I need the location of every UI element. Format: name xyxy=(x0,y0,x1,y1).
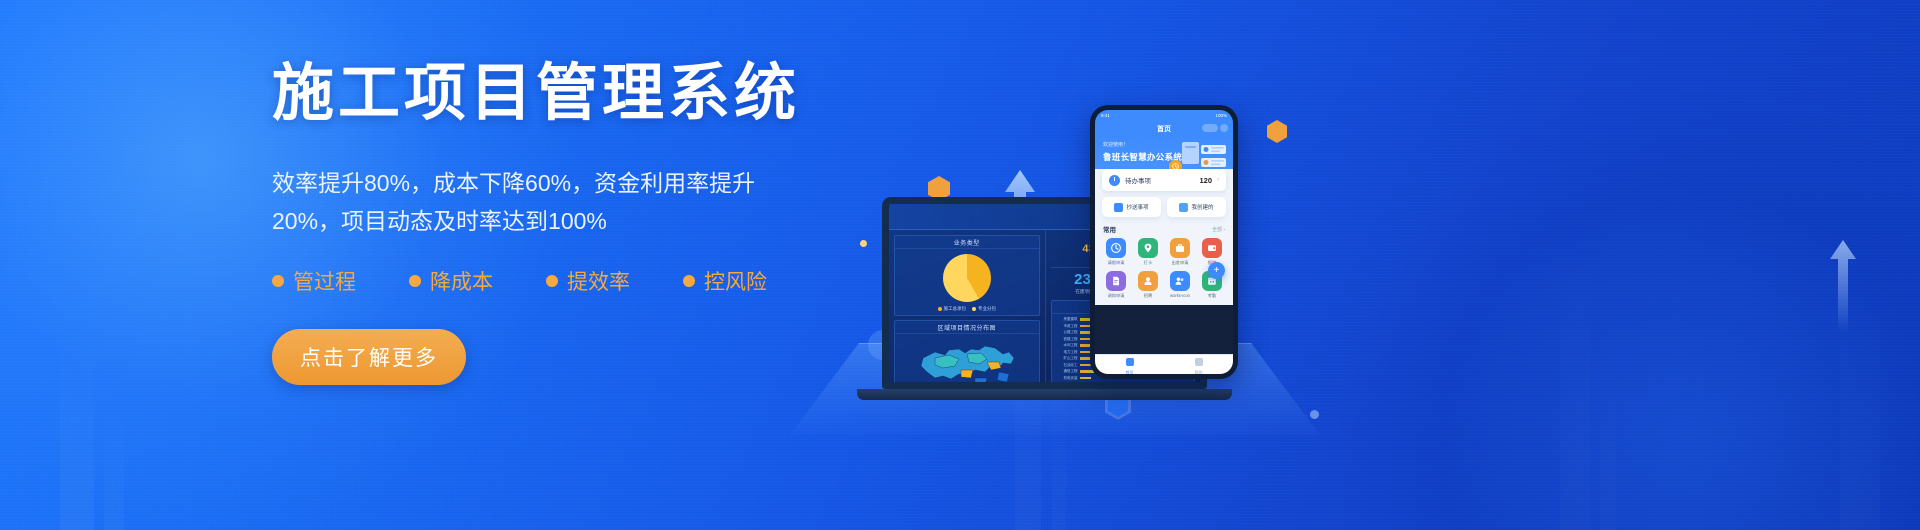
feature-label: 控风险 xyxy=(704,266,767,296)
section-header: 常用 全部 › xyxy=(1103,224,1225,234)
legend-item-0: 施工总承包 xyxy=(938,306,967,312)
banner-subtitle: 效率提升80%，成本下降60%，资金利用率提升20%，项目动态及时率达到100% xyxy=(272,164,792,240)
location-icon xyxy=(1138,238,1158,258)
promo-banner: 施工项目管理系统 效率提升80%，成本下降60%，资金利用率提升20%，项目动态… xyxy=(0,0,1920,530)
bar-row-label: 矿山工程 xyxy=(1056,356,1078,361)
bar-row-bar xyxy=(1080,377,1091,380)
panel-region-map: 区域项目情况分布图 xyxy=(894,320,1040,389)
status-battery: 100% xyxy=(1215,113,1227,118)
app-tile-label: 打卡 xyxy=(1134,260,1162,266)
home-icon xyxy=(1126,358,1134,366)
dashboard-left-column: 业务类型 施工总承包 专业分包 区域项目情况分布图 xyxy=(889,230,1045,382)
tab-label: 首页 xyxy=(1095,367,1164,376)
device-mockups: 市场管理报表 业务类型 施工总承包 专业分包 xyxy=(790,105,1350,435)
bar-row-label: 通信工程 xyxy=(1056,369,1078,374)
bullet-dot-icon xyxy=(546,275,558,287)
section-title: 常用 xyxy=(1103,224,1116,234)
quick-action-cc[interactable]: 抄送事项 xyxy=(1102,197,1161,217)
laptop-base xyxy=(857,389,1232,400)
panel-title: 业务类型 xyxy=(895,236,1039,249)
people-icon xyxy=(1170,271,1190,291)
todo-count: 120 xyxy=(1199,176,1212,185)
bar-row-label: 机电安装 xyxy=(1056,376,1078,381)
panel-business-type: 业务类型 施工总承包 专业分包 xyxy=(894,235,1040,316)
phone-mockup: 9:41 100% 首页 欢迎使用！ 鲁班长智慧办公系统 xyxy=(1090,105,1238,379)
bullet-dot-icon xyxy=(272,275,284,287)
bullet-dot-icon xyxy=(409,275,421,287)
app-tile[interactable]: 出差申请 xyxy=(1166,238,1194,266)
app-tile[interactable]: 招聘 xyxy=(1134,271,1162,299)
app-tile-label: 招聘 xyxy=(1134,293,1162,299)
app-tile-label: works-icon xyxy=(1166,293,1194,298)
phone-body: 待办事项 120 › 抄送事项 我创建的 常用 全部 › xyxy=(1095,169,1233,305)
wallet-icon xyxy=(1202,238,1222,258)
page-title: 施工项目管理系统 xyxy=(272,60,832,128)
app-tile-label: 调岗申请 xyxy=(1102,293,1130,299)
bullet-dot-icon xyxy=(683,275,695,287)
feature-list: 管过程 降成本 提效率 控风险 xyxy=(272,266,832,296)
chevron-right-icon: › xyxy=(1217,177,1219,183)
nav-capsule[interactable] xyxy=(1202,124,1228,132)
todo-card[interactable]: 待办事项 120 › xyxy=(1102,169,1226,191)
clock-icon xyxy=(1109,175,1120,186)
app-tile[interactable]: 打卡 xyxy=(1134,238,1162,266)
clock-icon xyxy=(1106,238,1126,258)
banner-copy: 施工项目管理系统 效率提升80%，成本下降60%，资金利用率提升20%，项目动态… xyxy=(272,60,832,385)
person-icon xyxy=(1195,358,1203,366)
app-tile[interactable]: 调岗申请 xyxy=(1102,271,1130,299)
bar-row-label: 石油化工 xyxy=(1056,363,1078,368)
more-icon[interactable] xyxy=(1202,124,1218,132)
learn-more-button[interactable]: 点击了解更多 xyxy=(272,329,466,385)
china-map-icon xyxy=(915,332,1019,389)
quick-action-created[interactable]: 我创建的 xyxy=(1167,197,1226,217)
feature-item-0: 管过程 xyxy=(272,266,356,296)
phone-nav-bar: 首页 xyxy=(1095,121,1233,136)
todo-label: 待办事项 xyxy=(1125,175,1194,185)
pie-legend: 施工总承包 专业分包 xyxy=(895,306,1039,315)
copy-icon xyxy=(1114,203,1123,212)
feature-label: 管过程 xyxy=(293,266,356,296)
bar-row-label: 市政工程 xyxy=(1056,324,1078,329)
section-more-link[interactable]: 全部 › xyxy=(1212,226,1225,233)
document-icon xyxy=(1106,271,1126,291)
app-tile[interactable]: 请假申请 xyxy=(1102,238,1130,266)
target-icon[interactable] xyxy=(1220,124,1228,132)
phone-tab-bar: 首页 我的 xyxy=(1095,354,1233,374)
person-icon xyxy=(1138,271,1158,291)
bar-row-label: 电力工程 xyxy=(1056,350,1078,355)
document-icon xyxy=(1179,203,1188,212)
app-tile[interactable]: works-icon xyxy=(1166,271,1194,299)
tab-mine[interactable]: 我的 xyxy=(1164,355,1233,374)
feature-item-1: 降成本 xyxy=(409,266,493,296)
add-fab-button[interactable]: + xyxy=(1208,262,1225,279)
bar-row-label: 公路工程 xyxy=(1056,330,1078,335)
status-time: 9:41 xyxy=(1101,113,1110,118)
bar-row-label: 房屋建筑 xyxy=(1056,317,1078,322)
feature-label: 提效率 xyxy=(567,266,630,296)
feature-item-3: 控风险 xyxy=(683,266,767,296)
feature-label: 降成本 xyxy=(430,266,493,296)
app-tile-label: 考勤 xyxy=(1198,293,1226,299)
quick-action-label: 我创建的 xyxy=(1191,203,1213,211)
phone-status-bar: 9:41 100% xyxy=(1095,110,1233,121)
quick-action-label: 抄送事项 xyxy=(1126,203,1148,211)
bar-row-label: 铁路工程 xyxy=(1056,337,1078,342)
pie-chart xyxy=(943,254,991,302)
briefcase-icon xyxy=(1170,238,1190,258)
legend-item-1: 专业分包 xyxy=(972,306,996,312)
arrow-up-icon-2 xyxy=(1830,240,1856,332)
bar-row-label: 水利工程 xyxy=(1056,343,1078,348)
app-tile-label: 出差申请 xyxy=(1166,260,1194,266)
quick-actions: 抄送事项 我创建的 xyxy=(1102,197,1226,217)
tab-home[interactable]: 首页 xyxy=(1095,355,1164,374)
nav-title: 首页 xyxy=(1157,124,1171,134)
tab-label: 我的 xyxy=(1164,367,1233,376)
app-tile-label: 请假申请 xyxy=(1102,260,1130,266)
feature-item-2: 提效率 xyxy=(546,266,630,296)
